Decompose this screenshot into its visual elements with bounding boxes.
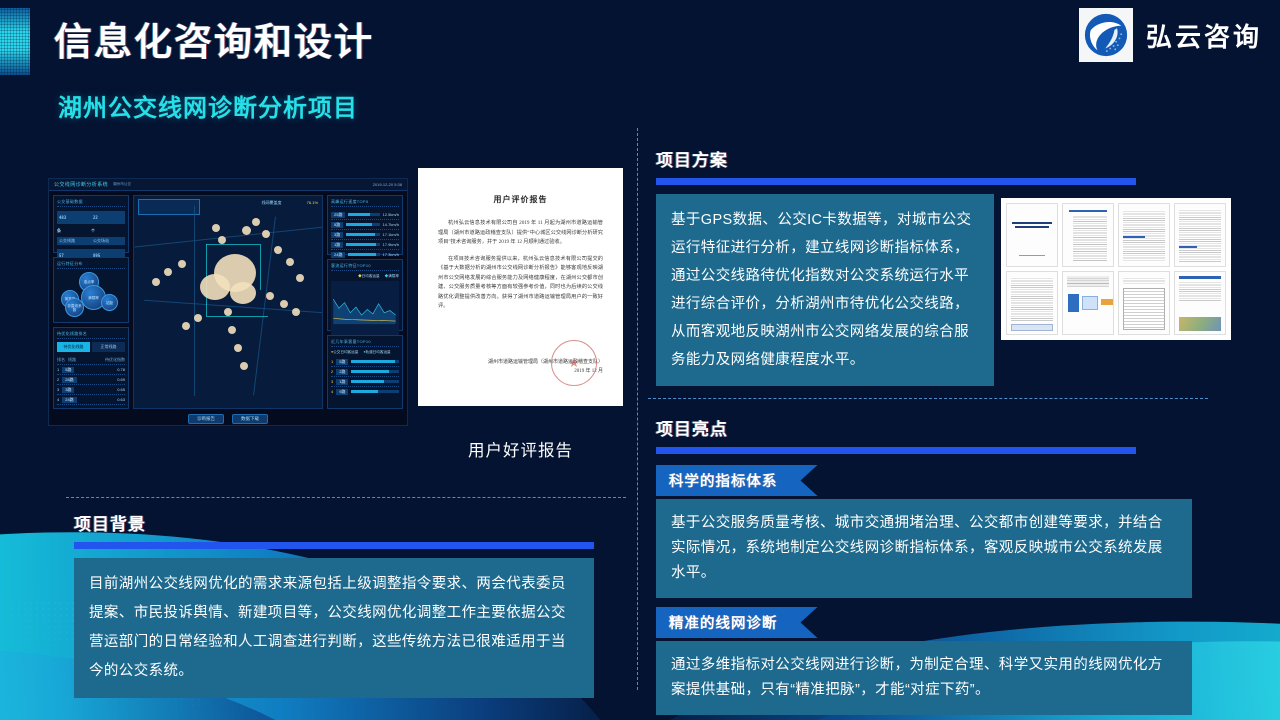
row-rank: 2 [57,377,59,382]
speed-bar [346,223,379,226]
map-stop [286,258,294,266]
map-legend-label: 线网覆盖度 [262,200,282,205]
panel-optimizable-lines: 待优化线路排名 待优化线路 正常线路 排名 线路 待优化指数 1 5路 0.78… [53,327,129,409]
highlight-item: 精准的线网诊断 通过多维指标对公交线网进行诊断，为制定合理、科学又实用的线网优化… [656,607,1208,715]
panel-speed-title: 高峰运行速度TOP5 [331,199,399,207]
map-route [260,244,261,290]
col-line: 线路 [68,357,76,363]
list-item[interactable]: 3 3路 0.65 [57,385,125,395]
globe-leaf-logo-icon [1079,8,1133,62]
speed-bar [346,233,379,236]
speed-bar [346,243,379,246]
brand-name: 弘云咨询 [1146,17,1262,54]
ridership-row: 31路 [331,377,399,387]
section-project-background: 项目背景 目前湖州公交线网优化的需求来源包括上级调整指令要求、两会代表委员提案、… [74,510,614,698]
report-paragraph: 在项目技术咨询服务提供以来，杭州弘云信息技术有限公司提交的《基于大数据分析的湖州… [438,255,603,312]
legend-label: 公交日均客运量 [333,350,358,354]
report-paragraph: 杭州弘云信息技术有限公司自 2019 年 11 月起为湖州市道路运输管理局（湖州… [438,219,603,248]
map-stop [274,246,282,254]
report-caption: 用户好评报告 [418,437,623,461]
report-title: 用户评价报告 [418,194,623,205]
speed-line: 5路 [331,222,343,228]
map-stop [242,226,251,235]
bubble-item: 站距 [101,294,118,311]
metric-label: 公交线路 [57,237,91,245]
map-stop [224,308,232,316]
row-rank: 3 [57,387,59,392]
speed-row: 1路 17.9km/h [331,240,399,250]
dashboard-topbar: 公交基础数据 公交线网诊断分析系统 湖州市公交 2019-12-20 5:38 [49,179,407,191]
metric-item: 22个 公交场站 [91,210,125,245]
map-route [206,244,260,245]
speed-line: 24路 [331,252,345,258]
speed-bar [348,253,379,256]
map-stop [292,308,300,316]
panel-ridership-title: 近几年乘客量TOP10 [331,339,399,347]
bus-network-diagnosis-dashboard-screenshot[interactable]: 公交基础数据 公交线网诊断分析系统 湖州市公交 2019-12-20 5:38 … [48,178,408,426]
map-stop [228,326,236,334]
dashboard-footer: 诊断报告 数据下载 [49,413,407,425]
row-line: 28路 [62,377,76,383]
panel-trend-title: 客流运行特征TOP10 [331,263,399,271]
map-stop [182,322,190,330]
section-rule [656,447,1136,454]
section-title-project-plan: 项目方案 [656,146,1208,171]
section-rule [656,178,1136,185]
map-stop-cluster [230,282,256,304]
map-stop [262,230,270,238]
slide-header: 信息化咨询和设计 弘云咨询 [0,0,1280,78]
speed-line: 1路 [331,242,343,248]
metric-value: 22 [91,211,125,224]
map-stop [152,278,160,286]
speed-row: 24路 17.3km/h [331,250,399,259]
header-accent-bar [0,8,30,75]
trend-chart [331,281,399,339]
metric-unit: 个 [91,228,95,233]
row-rank: 1 [57,367,59,372]
list-header-row: 排名 线路 待优化指数 [57,355,125,365]
dashboard-right-column: 高峰运行速度TOP5 25路 12.5km/h 5路 14.7km/h 3路 1… [327,195,403,409]
map-stop [234,344,242,352]
section-title-project-highlights: 项目亮点 [656,415,1208,440]
report-button[interactable]: 诊断报告 [188,414,224,424]
section-rule [74,542,594,549]
legend-label: 满载率 [388,274,399,278]
map-road [194,206,195,396]
project-background-body: 目前湖州公交线网优化的需求来源包括上级调整指令要求、两会代表委员提案、市民投诉舆… [74,558,594,698]
map-info-card [138,199,200,215]
project-subtitle: 湖州公交线网诊断分析项目 [58,88,358,123]
dashboard-subtitle: 湖州市公交 [113,182,131,187]
highlight-body-1: 基于公交服务质量考核、城市交通拥堵治理、公交都市创建等要求，并结合实际情况，系统… [656,499,1192,598]
panel-basic-metrics-title: 公交基础数据 [57,199,125,207]
speed-bar [348,213,379,216]
speed-value: 17.1km/h [383,232,399,237]
dashboard-left-column: 公交基础数据 483条 公交线路 22个 公交场站 57个 公交枢纽 [53,195,129,409]
section-title-project-background: 项目背景 [74,510,614,535]
row-line: 3路 [62,387,74,393]
highlight-ribbon-1: 科学的指标体系 [656,465,818,496]
map-stop [266,292,274,300]
bubble-item: 非直线系数 [65,298,84,317]
dashboard-datetime: 2019-12-20 5:38 [373,182,402,187]
map-legend: 线网覆盖度 76.1% [262,200,318,206]
map-stop-cluster [200,274,230,300]
tab-normal[interactable]: 正常线路 [92,342,125,352]
row-line: 24路 [62,397,76,403]
vertical-dashed-divider [637,128,638,690]
map-stop [252,218,260,226]
map-stop [296,274,304,282]
row-rank: 4 [57,397,59,402]
line-tabs[interactable]: 待优化线路 正常线路 [57,342,125,352]
row-value: 0.78 [117,367,125,372]
map-legend-value: 76.1% [307,200,318,205]
legend-label: 轨道日均客运量 [366,350,391,354]
section-project-plan: 项目方案 基于GPS数据、公交IC卡数据等，对城市公交运行特征进行分析，建立线网… [656,146,1208,386]
map-stop [240,362,248,370]
download-button[interactable]: 数据下载 [232,414,268,424]
col-rank: 排名 [57,357,65,363]
speed-line: 3路 [331,232,343,238]
network-map[interactable]: 线网覆盖度 76.1% [133,195,323,409]
metric-item: 483条 公交线路 [57,210,91,245]
list-item[interactable]: 2 28路 0.69 [57,375,125,385]
highlight-item: 科学的指标体系 基于公交服务质量考核、城市交通拥堵治理、公交都市创建等要求，并结… [656,465,1208,598]
speed-value: 12.5km/h [383,212,399,217]
speed-line: 25路 [331,212,345,218]
dashboard-system-title: 公交线网诊断分析系统 [54,181,108,188]
row-line: 5路 [62,367,74,373]
horizontal-dashed-divider-right [648,398,1208,399]
highlight-ribbon-2: 精准的线网诊断 [656,607,818,638]
legend-label: 日均客运量 [362,274,380,278]
map-stop [212,224,220,232]
speed-value: 17.3km/h [383,252,399,257]
ridership-row: 49路 [331,387,399,396]
row-value: 0.65 [117,387,125,392]
bubble-chart: 准点率 满载率 换乘率 站距 非直线系数 [57,272,125,318]
col-index: 待优化指数 [105,357,125,363]
dashboard-body: 公交基础数据 483条 公交线路 22个 公交场站 57个 公交枢纽 [49,191,407,413]
panel-basic-metrics: 公交基础数据 483条 公交线路 22个 公交场站 57个 公交枢纽 [53,195,129,253]
map-stop [218,236,226,244]
page-title: 信息化咨询和设计 [54,11,374,66]
panel-passenger-trend: 客流运行特征TOP10 ◆日均客运量 ◆满载率 [327,259,403,331]
list-item[interactable]: 1 5路 0.78 [57,365,125,375]
trend-legend: ◆日均客运量 ◆满载率 [331,274,399,279]
user-evaluation-report-scan[interactable]: 用户评价报告 杭州弘云信息技术有限公司自 2019 年 11 月起为湖州市道路运… [418,168,623,406]
panel-speed-top5: 高峰运行速度TOP5 25路 12.5km/h 5路 14.7km/h 3路 1… [327,195,403,255]
panel-bubbles-title: 运行特征分布 [57,261,125,269]
map-stop [194,314,202,322]
map-stop [178,260,186,268]
project-plan-body: 基于GPS数据、公交IC卡数据等，对城市公交运行特征进行分析，建立线网诊断指标体… [656,194,994,386]
map-stop [280,300,288,308]
map-stop [164,268,172,276]
panel-lines-title: 待优化线路排名 [57,331,125,339]
panel-operation-bubbles: 运行特征分布 准点率 满载率 换乘率 站距 非直线系数 [53,257,129,323]
speed-row: 3路 17.1km/h [331,230,399,240]
row-value: 0.69 [117,377,125,382]
ridership-row: 15路 [331,357,399,367]
highlight-body-2: 通过多维指标对公交线网进行诊断，为制定合理、科学又实用的线网优化方案提供基础，只… [656,641,1192,715]
horizontal-dashed-divider-left [66,497,626,498]
ridership-row: 22路 [331,367,399,377]
metric-value: 483 [57,211,91,224]
metric-label: 公交场站 [91,237,125,245]
speed-value: 17.9km/h [383,242,399,247]
row-value: 0.63 [117,397,125,402]
brand-logo: 弘云咨询 [1079,8,1262,62]
speed-value: 14.7km/h [383,222,399,227]
metric-unit: 条 [57,228,61,233]
official-red-seal-icon [551,340,597,386]
list-item[interactable]: 4 24路 0.63 [57,395,125,405]
map-route [206,316,268,317]
section-project-highlights: 项目亮点 科学的指标体系 基于公交服务质量考核、城市交通拥堵治理、公交都市创建等… [656,415,1208,715]
tab-optimizable[interactable]: 待优化线路 [57,342,90,352]
panel-ridership-rank: 近几年乘客量TOP10 ●公交日均客运量 ●轨道日均客运量 15路 22路 31… [327,335,403,409]
speed-row: 25路 12.5km/h [331,210,399,220]
speed-row: 5路 14.7km/h [331,220,399,230]
ridership-legend: ●公交日均客运量 ●轨道日均客运量 [331,350,399,355]
